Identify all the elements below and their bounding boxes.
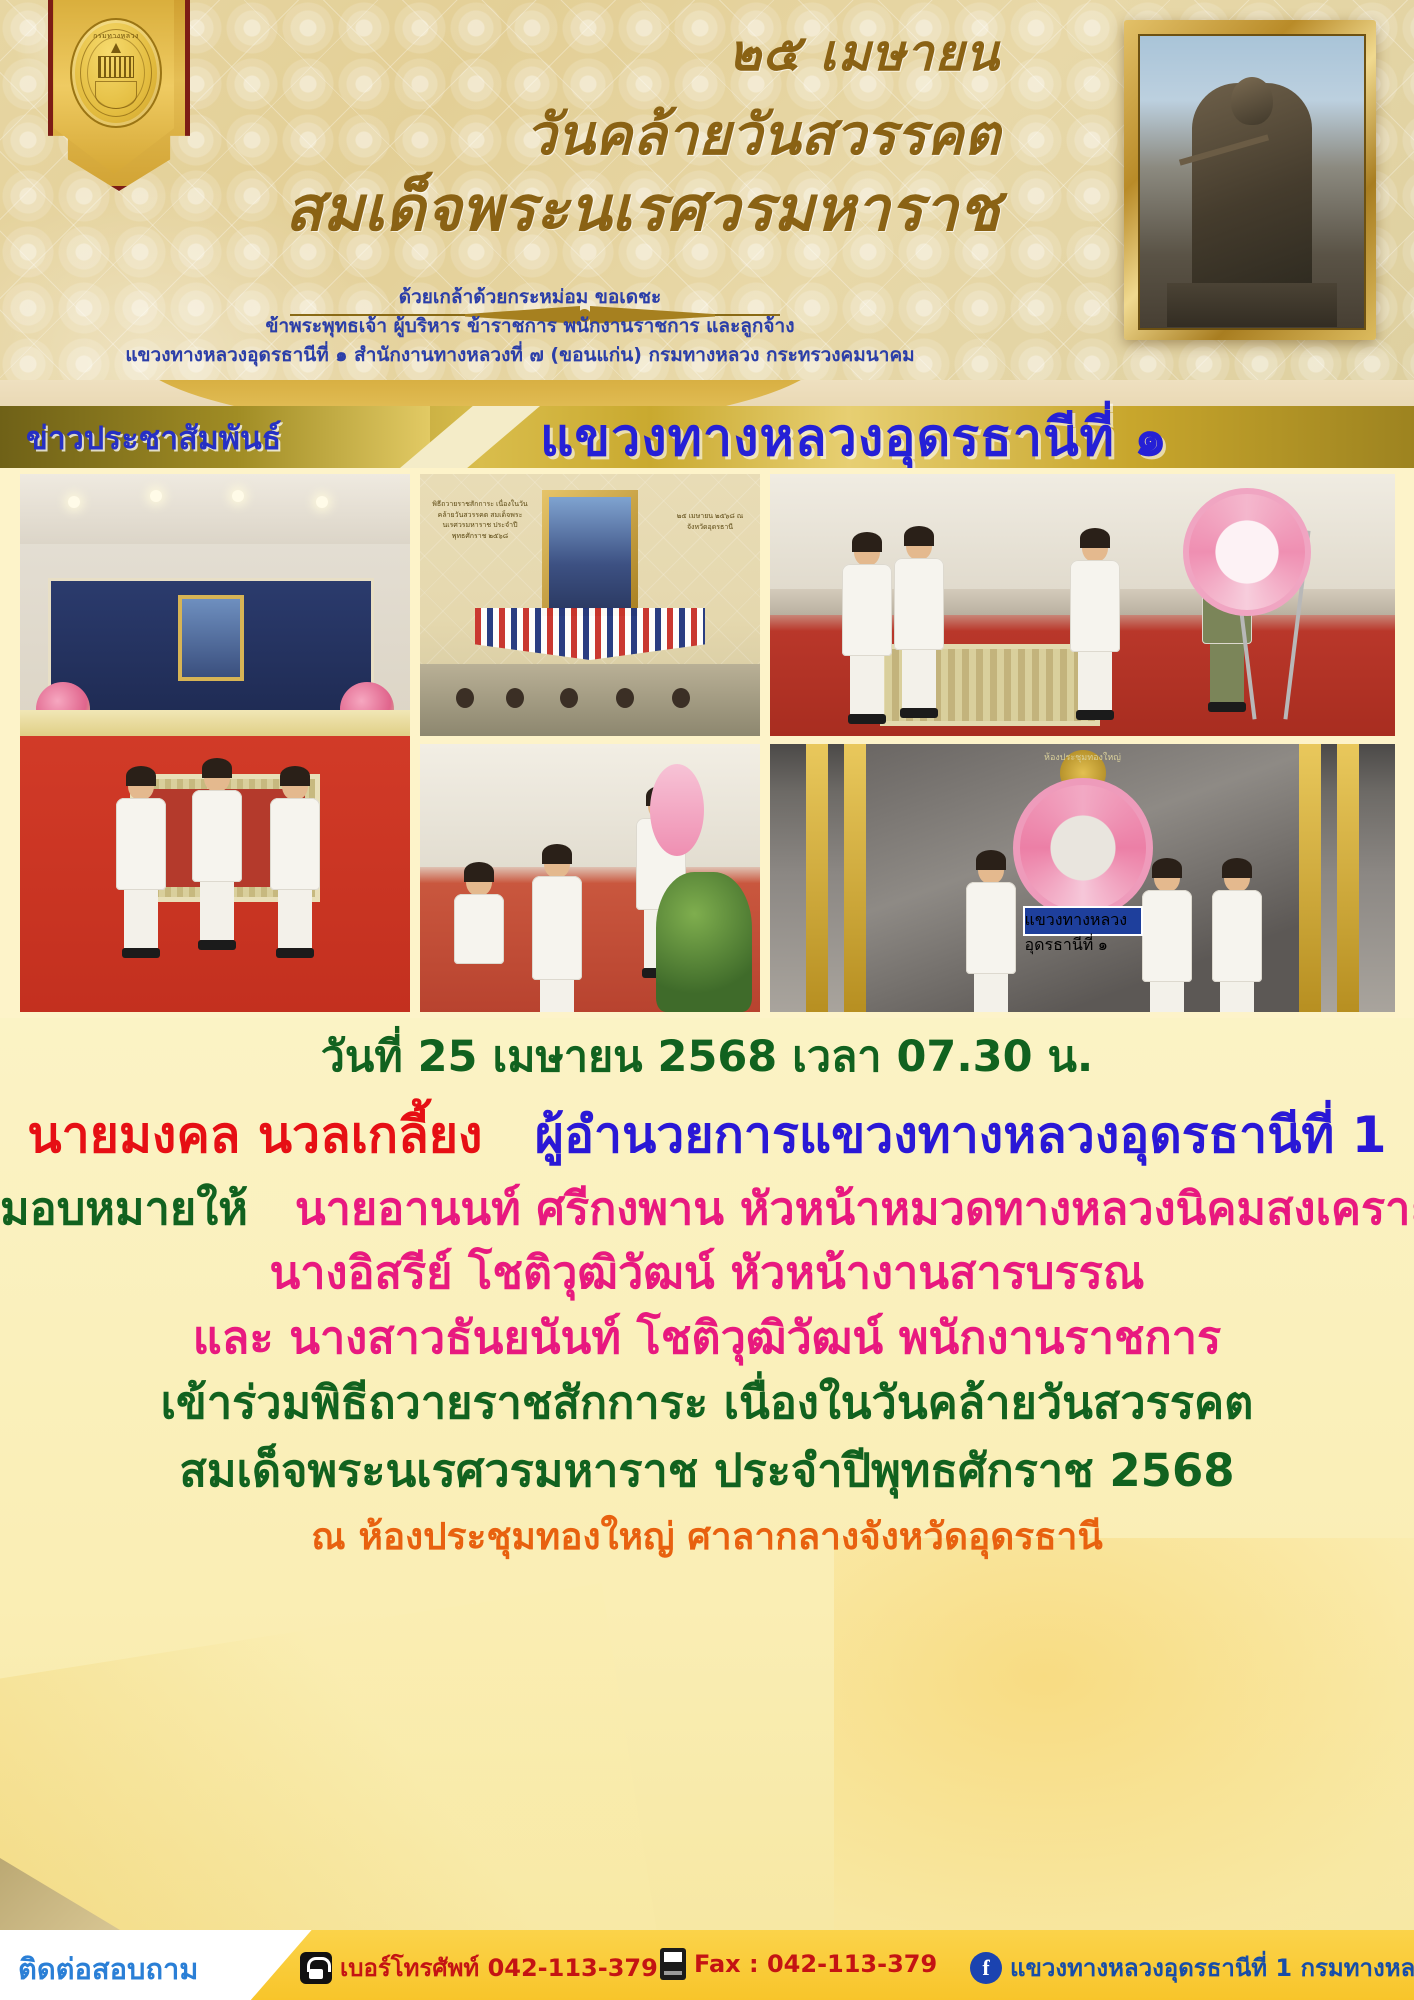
official-female-left xyxy=(116,770,166,958)
poster-root: กรมทางหลวง ๒๕ เมษายน วันคล้ายวันสวรรคต ส… xyxy=(0,0,1414,2000)
organization-title: แขวงทางหลวงอุดรธานีที่ ๑ xyxy=(540,402,1414,470)
announcement-venue-line: ณ ห้องประชุมทองใหญ่ ศาลากลางจังหวัดอุดรธ… xyxy=(0,1518,1414,1555)
contact-label: ติดต่อสอบถาม xyxy=(18,1946,198,1992)
royal-portrait-frame xyxy=(542,490,638,616)
person-shoes xyxy=(122,948,160,958)
person-hair xyxy=(904,526,934,546)
person-legs xyxy=(1220,982,1254,1012)
floral-wreath xyxy=(1013,778,1153,918)
king-statue-figure xyxy=(1192,83,1312,293)
person-legs xyxy=(124,890,158,948)
person-hair xyxy=(1080,528,1110,548)
gold-pillar xyxy=(1337,744,1359,1012)
person-shoes xyxy=(1076,710,1114,720)
announcement-assignee-2: นางอิสรีย์ โชติวุฒิวัฒน์ หัวหน้างานสารบร… xyxy=(0,1250,1414,1295)
photo-wreath-laying xyxy=(770,474,1395,736)
person-hair xyxy=(202,758,232,778)
ceiling-light xyxy=(150,490,162,502)
announcement-assignee-3: และ นางสาวธันยนันท์ โชติวุฒิวัฒน์ พนักงา… xyxy=(0,1315,1414,1360)
audience-head xyxy=(616,688,634,708)
ceiling xyxy=(20,474,410,544)
person-shoes xyxy=(1208,702,1246,712)
statue-photo xyxy=(1138,34,1366,330)
person-shoes xyxy=(276,948,314,958)
statue-base xyxy=(1167,283,1337,327)
header-king-title: สมเด็จพระนเรศวรมหาราช xyxy=(0,160,1000,258)
news-label: ข่าวประชาสัมพันธ์ xyxy=(26,410,416,466)
person-uniform xyxy=(532,876,582,980)
ceiling-light xyxy=(316,496,328,508)
audience-head xyxy=(456,688,474,708)
assignee-2: นางอิสรีย์ โชติวุฒิวัฒน์ หัวหน้างานสารบร… xyxy=(269,1246,1144,1299)
person-hair xyxy=(976,850,1006,870)
person-hair xyxy=(542,844,572,864)
staff-right xyxy=(1212,862,1262,1012)
person-legs xyxy=(974,974,1008,1012)
person-hair xyxy=(280,766,310,786)
floral-arrangement xyxy=(650,764,704,856)
body-decor-right xyxy=(834,1538,1414,1930)
person-head xyxy=(1224,862,1250,892)
announcement-director-line: นายมงคล นวลเกลี้ยง ผู้อำนวยการแขวงทางหลว… xyxy=(0,1110,1414,1160)
director-placing-wreath xyxy=(1070,532,1120,720)
audience-head xyxy=(506,688,524,708)
person-uniform xyxy=(966,882,1016,974)
assignment-verb: มอบหมายให้ xyxy=(0,1182,248,1235)
person-uniform xyxy=(116,798,166,890)
wall xyxy=(420,744,760,867)
gold-pillar xyxy=(844,744,866,1012)
audience-head xyxy=(672,688,690,708)
fax-contact[interactable]: Fax : 042-113-379 xyxy=(660,1948,937,1980)
person-hair xyxy=(126,766,156,786)
person-legs xyxy=(1150,982,1184,1012)
person-uniform xyxy=(894,558,944,650)
person-head xyxy=(544,848,570,878)
header-subtitle-3: แขวงทางหลวงอุดรธานีที่ ๑ สำนักงานทางหลวง… xyxy=(0,340,1180,370)
photo-bowing xyxy=(420,744,760,1012)
event-venue: ณ ห้องประชุมทองใหญ่ ศาลากลางจังหวัดอุดรธ… xyxy=(311,1515,1103,1558)
person-shoes xyxy=(900,708,938,718)
person-uniform xyxy=(1142,890,1192,982)
announcement-assignment-line: มอบหมายให้ นายอานนท์ ศรีกงพาน หัวหน้าหมว… xyxy=(0,1186,1414,1231)
person-uniform xyxy=(192,790,242,882)
header-subtitle-1: ด้วยเกล้าด้วยกระหม่อม ขอเดชะ xyxy=(10,282,1050,312)
wreath-ribbon-label: แขวงทางหลวงอุดรธานีที่ ๑ xyxy=(1023,906,1143,936)
person-head xyxy=(906,530,932,560)
person-head xyxy=(466,866,492,896)
person-legs xyxy=(1078,652,1112,710)
potted-plants xyxy=(656,872,752,1012)
fax-icon xyxy=(660,1948,686,1980)
photo-collage: พิธีถวายราชสักการะ เนื่องในวันคล้ายวันสว… xyxy=(0,468,1414,1018)
photo-group-auditorium xyxy=(20,474,410,1012)
phone-number-text: เบอร์โทรศัพท์ 042-113-379 xyxy=(340,1948,658,1987)
backdrop-text-right: ๒๕ เมษายน ๒๕๖๘ ณ จังหวัดอุดรธานี xyxy=(666,512,754,533)
gold-pillar xyxy=(1299,744,1321,1012)
header-section: กรมทางหลวง ๒๕ เมษายน วันคล้ายวันสวรรคต ส… xyxy=(0,0,1414,390)
royal-portrait-image xyxy=(549,497,631,609)
footer-contact-bar: ติดต่อสอบถาม เบอร์โทรศัพท์ 042-113-379 F… xyxy=(0,1930,1414,2000)
fax-number-text: Fax : 042-113-379 xyxy=(694,1950,937,1978)
person-hair xyxy=(852,532,882,552)
person-head xyxy=(282,770,308,800)
person-shoes xyxy=(198,940,236,950)
event-description-2: สมเด็จพระนเรศวรมหาราช ประจำปีพุทธศักราช … xyxy=(179,1444,1234,1497)
person-legs xyxy=(200,882,234,940)
announcement-event-line-2: สมเด็จพระนเรศวรมหาราช ประจำปีพุทธศักราช … xyxy=(0,1448,1414,1493)
statue-sword xyxy=(1179,134,1269,165)
assignee-3: และ นางสาวธันยนันท์ โชติวุฒิวัฒน์ พนักงา… xyxy=(193,1311,1221,1364)
audience-head xyxy=(560,688,578,708)
person-uniform xyxy=(1212,890,1262,982)
person-head xyxy=(128,770,154,800)
ceiling-light xyxy=(68,496,80,508)
statue-photo-frame xyxy=(1124,20,1376,340)
photo-ceremony-backdrop: พิธีถวายราชสักการะ เนื่องในวันคล้ายวันสว… xyxy=(420,474,760,736)
person-hair xyxy=(1222,858,1252,878)
photo-group-wreath: ห้องประชุมทองใหญ่ แขวงทางหลวงอุดรธานี xyxy=(770,744,1395,1012)
person-legs xyxy=(540,980,574,1012)
person-uniform xyxy=(454,894,504,964)
facebook-page-text: แขวงทางหลวงอุดรธานีที่ 1 กรมทางหลวง xyxy=(1010,1948,1414,1987)
event-description-1: เข้าร่วมพิธีถวายราชสักการะ เนื่องในวันคล… xyxy=(161,1376,1254,1429)
person-head xyxy=(854,536,880,566)
announcement-event-line-1: เข้าร่วมพิธีถวายราชสักการะ เนื่องในวันคล… xyxy=(0,1380,1414,1425)
person-head xyxy=(1154,862,1180,892)
official-female-right xyxy=(270,770,320,958)
person-legs xyxy=(1210,644,1244,702)
announcement-datetime: วันที่ 25 เมษายน 2568 เวลา 07.30 น. xyxy=(0,1036,1414,1079)
phone-icon xyxy=(300,1952,332,1984)
person-head xyxy=(978,854,1004,884)
person-uniform xyxy=(1070,560,1120,652)
person-hair xyxy=(464,862,494,882)
staff-center xyxy=(1142,862,1192,1012)
header-date-title: ๒๕ เมษายน xyxy=(0,14,1000,93)
person-head xyxy=(204,762,230,792)
facebook-icon: f xyxy=(970,1952,1002,1984)
person-shoes xyxy=(848,714,886,724)
royal-portrait xyxy=(178,595,244,681)
statue-head xyxy=(1231,77,1273,125)
person-uniform xyxy=(270,798,320,890)
attendee-female-2 xyxy=(894,530,944,718)
header-subtitle-2: ข้าพระพุทธเจ้า ผู้บริหาร ข้าราชการ พนักง… xyxy=(10,311,1050,341)
hall-name-text: ห้องประชุมทองใหญ่ xyxy=(1044,750,1121,764)
announcement-body: วันที่ 25 เมษายน 2568 เวลา 07.30 น. นายม… xyxy=(0,1018,1414,1930)
facebook-contact[interactable]: f แขวงทางหลวงอุดรธานีที่ 1 กรมทางหลวง xyxy=(970,1948,1414,1987)
person-legs xyxy=(902,650,936,708)
person-uniform xyxy=(842,564,892,656)
person-hair xyxy=(1152,858,1182,878)
person-legs xyxy=(278,890,312,948)
attendee-female-1 xyxy=(842,536,892,724)
phone-contact[interactable]: เบอร์โทรศัพท์ 042-113-379 xyxy=(300,1948,658,1987)
director-bowing xyxy=(532,848,582,1012)
person-legs xyxy=(850,656,884,714)
director-name: นายมงคล นวลเกลี้ยง xyxy=(27,1106,482,1164)
backdrop-text-left: พิธีถวายราชสักการะ เนื่องในวันคล้ายวันสว… xyxy=(430,500,530,542)
floral-wreath xyxy=(1183,488,1311,616)
director-left xyxy=(966,854,1016,1012)
attendee-kneeling xyxy=(454,866,504,964)
official-male-center xyxy=(192,762,242,950)
person-head xyxy=(1082,532,1108,562)
ceiling-light xyxy=(232,490,244,502)
assignee-1: นายอานนท์ ศรีกงพาน หัวหน้าหมวดทางหลวงนิค… xyxy=(295,1182,1414,1235)
director-position: ผู้อำนวยการแขวงทางหลวงอุดรธานีที่ 1 xyxy=(535,1106,1387,1164)
stage-backdrop xyxy=(48,578,374,726)
announcement-datetime-text: วันที่ 25 เมษายน 2568 เวลา 07.30 น. xyxy=(321,1032,1093,1082)
gold-pillar xyxy=(806,744,828,1012)
stage-valance xyxy=(20,710,410,736)
body-decor-left xyxy=(0,1583,669,1930)
